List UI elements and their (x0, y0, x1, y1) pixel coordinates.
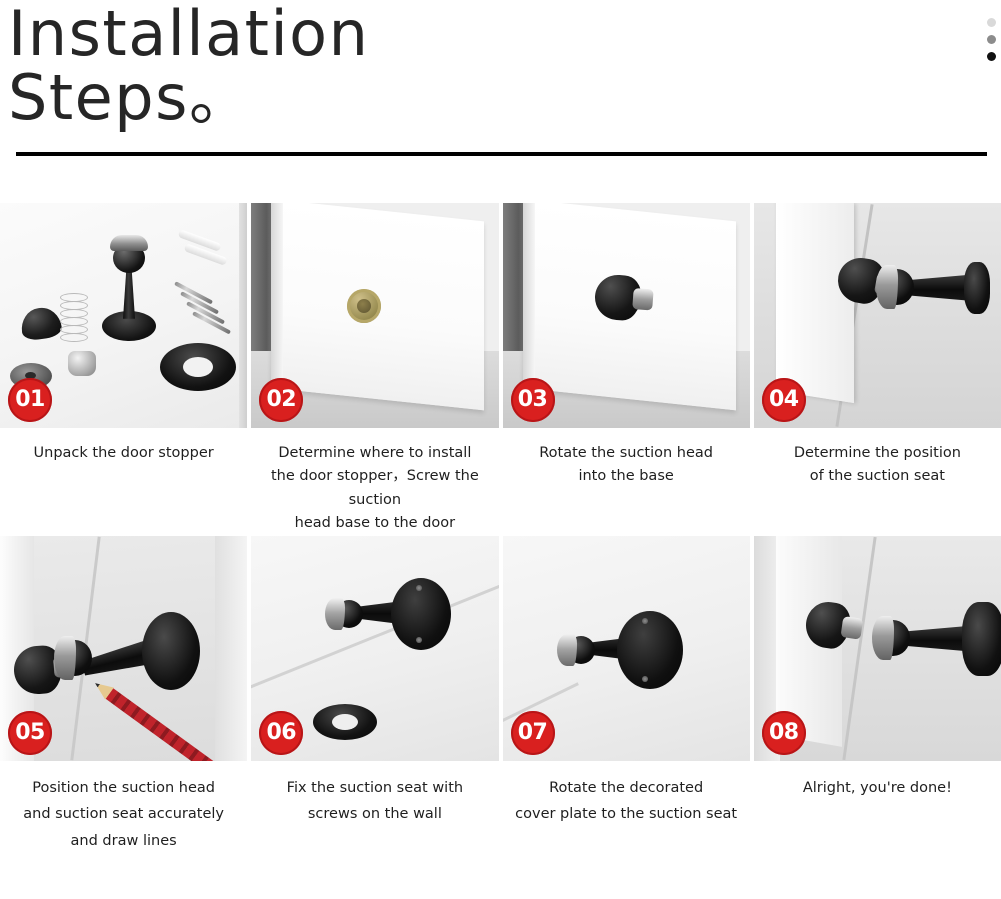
wall-mounted-suction-seat (563, 614, 683, 686)
step-badge-04: 04 (762, 378, 806, 422)
floor-suction-seat (876, 616, 992, 662)
step-card-07: 07 Rotate the decorated cover plate to t… (503, 536, 750, 855)
step-badge-07: 07 (511, 711, 555, 755)
page-title-line-2: Steps。 (8, 66, 993, 130)
step-card-01: 01 Unpack the door stopper (0, 203, 247, 536)
page-title: InstallationSteps。 (8, 0, 993, 130)
step-badge-01: 01 (8, 378, 52, 422)
floor-suction-seat (880, 265, 990, 311)
decorative-cover-plate (617, 611, 683, 689)
part-chrome-nut (68, 351, 96, 376)
part-head-stem (123, 269, 135, 319)
part-spring (60, 293, 88, 345)
seat-collar (54, 636, 76, 680)
white-door (776, 203, 854, 403)
floor-tile-seam (842, 537, 876, 760)
step-caption-01: Unpack the door stopper (24, 442, 224, 465)
step-caption-06: Fix the suction seat with screws on the … (277, 775, 473, 829)
chrome-tip (632, 288, 653, 310)
step-card-03: 03 Rotate the suction head into the base (503, 203, 750, 536)
seat-collar (876, 265, 898, 309)
wall-mounted-suction-seat (331, 578, 451, 650)
part-wall-anchors (179, 227, 239, 263)
wall-right (215, 536, 247, 761)
step-caption-03: Rotate the suction head into the base (529, 442, 723, 489)
pager-dot-3[interactable] (987, 52, 996, 61)
part-suction-head-assembly (104, 235, 154, 345)
seat-collar (325, 598, 345, 630)
step-photo-08: 08 (754, 536, 1001, 761)
part-head-cap (110, 235, 148, 251)
pager-dots[interactable] (987, 18, 996, 61)
step-caption-04: Determine the position of the suction se… (784, 442, 971, 489)
step-caption-07: Rotate the decorated cover plate to the … (505, 775, 747, 829)
step-card-04: 04 Determine the position of the suction… (754, 203, 1001, 536)
step-photo-03: 03 (503, 203, 750, 428)
door-edge (271, 203, 283, 389)
step-photo-02: 02 (251, 203, 498, 428)
step-photo-07: 07 (503, 536, 750, 761)
page-title-line-1: Installation (8, 0, 369, 70)
seat-collar (872, 616, 894, 660)
step-caption-08: Alright, you're done! (793, 775, 962, 802)
step-caption-05: Position the suction head and suction se… (13, 775, 234, 855)
seat-foot (142, 612, 200, 690)
chrome-tip (840, 616, 863, 640)
red-marking-pencil (104, 687, 233, 761)
step-card-02: 02 Determine where to install the door s… (251, 203, 498, 536)
part-screws (175, 277, 241, 361)
step-badge-02: 02 (259, 378, 303, 422)
step-card-08: 08 Alright, you're done! (754, 536, 1001, 855)
installation-steps-grid: 01 Unpack the door stopper 02 Determine … (0, 203, 1001, 855)
pager-dot-2[interactable] (987, 35, 996, 44)
step-badge-08: 08 (762, 711, 806, 755)
seat-foot (962, 602, 1001, 676)
seat-collar (557, 634, 577, 666)
decorative-cover-ring (313, 704, 377, 740)
floor-suction-seat (58, 636, 188, 686)
seat-foot (964, 262, 990, 314)
door-edge (523, 203, 535, 389)
part-rubber-cone (19, 305, 63, 341)
title-divider (16, 152, 987, 156)
brass-suction-head-base (347, 289, 381, 323)
step-photo-01: 01 (0, 203, 247, 428)
step-caption-02: Determine where to install the door stop… (251, 442, 498, 536)
page-header: InstallationSteps。 (0, 0, 1001, 156)
step-photo-05: 05 (0, 536, 247, 761)
step-badge-05: 05 (8, 711, 52, 755)
step-badge-03: 03 (511, 378, 555, 422)
step-badge-06: 06 (259, 711, 303, 755)
step-card-05: 05 Position the suction head and suction… (0, 536, 247, 855)
seat-mounting-plate (391, 578, 451, 650)
step-photo-04: 04 (754, 203, 1001, 428)
pager-dot-1[interactable] (987, 18, 996, 27)
step-photo-06: 06 (251, 536, 498, 761)
step-card-06: 06 Fix the suction seat with screws on t… (251, 536, 498, 855)
